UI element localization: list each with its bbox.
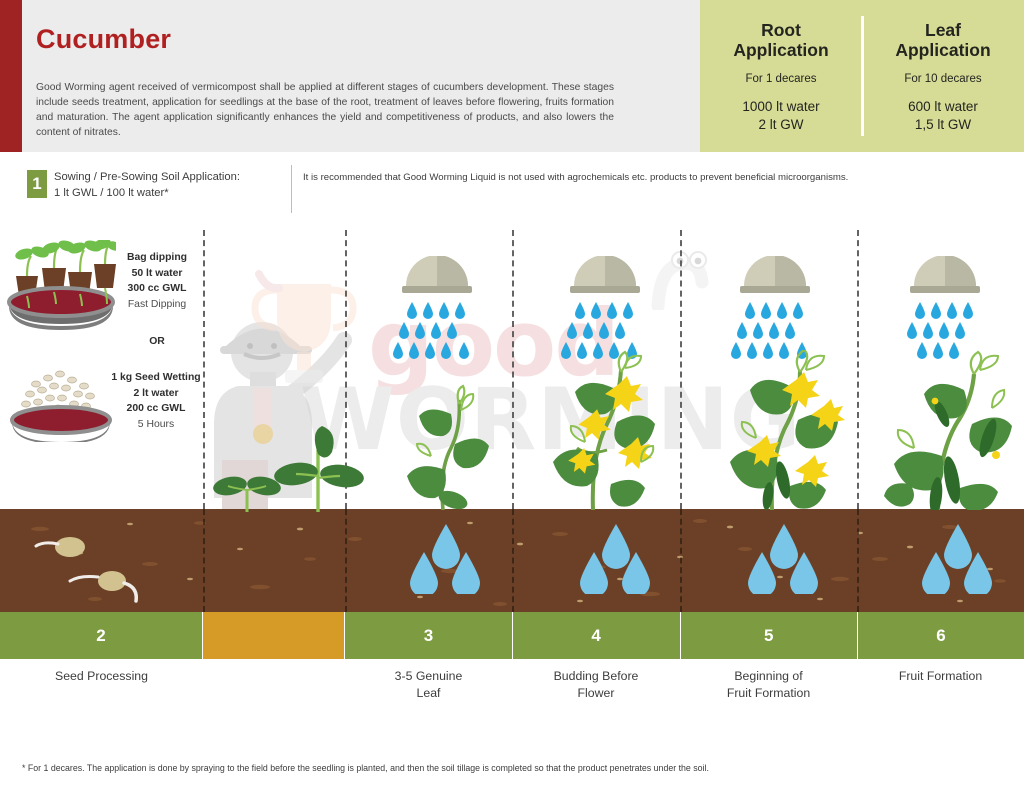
- root-application-title-line2: Application: [733, 40, 828, 60]
- leaf-application-title-line2: Application: [895, 40, 990, 60]
- step-1-row: 1 Sowing / Pre-Sowing Soil Application: …: [0, 166, 1024, 212]
- stage-divider-soil-5: [857, 509, 859, 612]
- step-1-dose: 1 lt GWL / 100 lt water*: [54, 187, 169, 199]
- stage-number-bar: 2 3 4 5 6: [0, 612, 1024, 659]
- stage-segment-transition[interactable]: [203, 612, 345, 659]
- bag-dipping-text: Bag dipping 50 lt water 300 cc GWL Fast …: [108, 250, 206, 312]
- shower-head-icon-stage3: [392, 256, 482, 366]
- bag-dipping-illustration: [6, 240, 116, 330]
- seed-wetting-line1: 1 kg Seed Wetting: [111, 372, 200, 383]
- application-panel: Root Application For 1 decares 1000 lt w…: [700, 0, 1024, 152]
- stage-label-2-line1: Seed Processing: [55, 669, 148, 683]
- stage-label-4: Budding Before Flower: [512, 668, 680, 702]
- stage-number-4: 4: [591, 626, 600, 646]
- footnote: * For 1 decares. The application is done…: [22, 762, 1002, 775]
- application-divider: [861, 16, 864, 136]
- bag-dipping-line4: Fast Dipping: [128, 299, 186, 310]
- seed-panel-or-label: OR: [108, 334, 206, 350]
- seedling-medium-plant: [272, 422, 364, 512]
- stage-divider-soil-3: [512, 509, 514, 612]
- stage-divider-soil-4: [680, 509, 682, 612]
- leaf-application-title-line1: Leaf: [925, 20, 961, 40]
- stage-segment-6[interactable]: 6: [858, 612, 1024, 659]
- stage-number-3: 3: [424, 626, 433, 646]
- worm-mascot-icon: [650, 248, 730, 310]
- soil-water-drops-stage6: [920, 522, 1000, 594]
- stage-segment-4[interactable]: 4: [513, 612, 681, 659]
- root-application-gw: 2 lt GW: [758, 117, 803, 132]
- seed-wetting-text: 1 kg Seed Wetting 2 lt water 200 cc GWL …: [100, 370, 212, 432]
- cucumber-vine-stage4-budding: [545, 350, 675, 510]
- header-description: Good Worming agent received of vermicomp…: [36, 80, 614, 140]
- step-1-title: Sowing / Pre-Sowing Soil Application:: [54, 171, 240, 183]
- stage-divider-4: [680, 230, 682, 509]
- stage-divider-soil-1: [203, 509, 205, 612]
- cucumber-vine-stage6-fruit: [880, 348, 1020, 510]
- stage-number-2: 2: [96, 626, 105, 646]
- root-application-water: 1000 lt water: [742, 99, 819, 114]
- stage-divider-soil-2: [345, 509, 347, 612]
- stage-divider-3: [512, 230, 514, 509]
- step-1-badge: 1: [27, 170, 47, 198]
- root-application-title-line1: Root: [761, 20, 801, 40]
- bag-dipping-line1: Bag dipping: [127, 252, 187, 263]
- page-title: Cucumber: [36, 24, 171, 55]
- stage-label-6: Fruit Formation: [857, 668, 1024, 685]
- seed-wetting-line3: 200 cc GWL: [127, 403, 186, 414]
- leaf-application-gw: 1,5 lt GW: [915, 117, 971, 132]
- stage-label-2: Seed Processing: [0, 668, 203, 685]
- stage-number-6: 6: [936, 626, 945, 646]
- seed-treatment-panel: Bag dipping 50 lt water 300 cc GWL Fast …: [0, 236, 205, 456]
- leaf-application-column: Leaf Application For 10 decares 600 lt w…: [862, 0, 1024, 152]
- stage-label-3-line2: Leaf: [417, 686, 441, 700]
- seed-wetting-line2: 2 lt water: [133, 388, 178, 399]
- stage-label-5: Beginning of Fruit Formation: [680, 668, 857, 702]
- soil-water-drops-stage4: [578, 522, 658, 594]
- root-application-column: Root Application For 1 decares 1000 lt w…: [700, 0, 862, 152]
- header: Cucumber Good Worming agent received of …: [0, 0, 1024, 152]
- step-1-note: It is recommended that Good Worming Liqu…: [303, 171, 1018, 185]
- stage-label-6-line1: Fruit Formation: [899, 669, 982, 683]
- bag-dipping-line2: 50 lt water: [132, 268, 183, 279]
- stage-label-4-line2: Flower: [578, 686, 615, 700]
- soil-water-drops-stage5: [746, 522, 826, 594]
- stage-label-3: 3-5 Genuine Leaf: [345, 668, 512, 702]
- stage-label-row: Seed Processing 3-5 Genuine Leaf Budding…: [0, 659, 1024, 719]
- stage-label-4-line1: Budding Before: [554, 669, 639, 683]
- leaf-application-area: For 10 decares: [904, 73, 981, 85]
- bag-dipping-line3: 300 cc GWL: [128, 283, 187, 294]
- step-1-text: Sowing / Pre-Sowing Soil Application: 1 …: [54, 169, 294, 201]
- stage-label-5-line2: Fruit Formation: [727, 686, 810, 700]
- header-accent-bar: [0, 0, 22, 152]
- cucumber-vine-stage3: [395, 380, 510, 510]
- leaf-application-water: 600 lt water: [908, 99, 978, 114]
- seed-wetting-line4: 5 Hours: [138, 419, 174, 430]
- cucumber-vine-stage5-early-fruit: [720, 350, 855, 510]
- stage-segment-5[interactable]: 5: [681, 612, 858, 659]
- trophy-watering-can-icon: [245, 270, 370, 410]
- stage-number-5: 5: [764, 626, 773, 646]
- root-application-area: For 1 decares: [746, 73, 817, 85]
- stage-segment-2[interactable]: 2: [0, 612, 203, 659]
- stage-label-5-line1: Beginning of: [734, 669, 802, 683]
- step-1-separator: [291, 165, 292, 213]
- stage-segment-3[interactable]: 3: [345, 612, 512, 659]
- stage-label-3-line1: 3-5 Genuine: [395, 669, 463, 683]
- stage-divider-5: [857, 230, 859, 509]
- soil-water-drops-stage3: [408, 522, 488, 594]
